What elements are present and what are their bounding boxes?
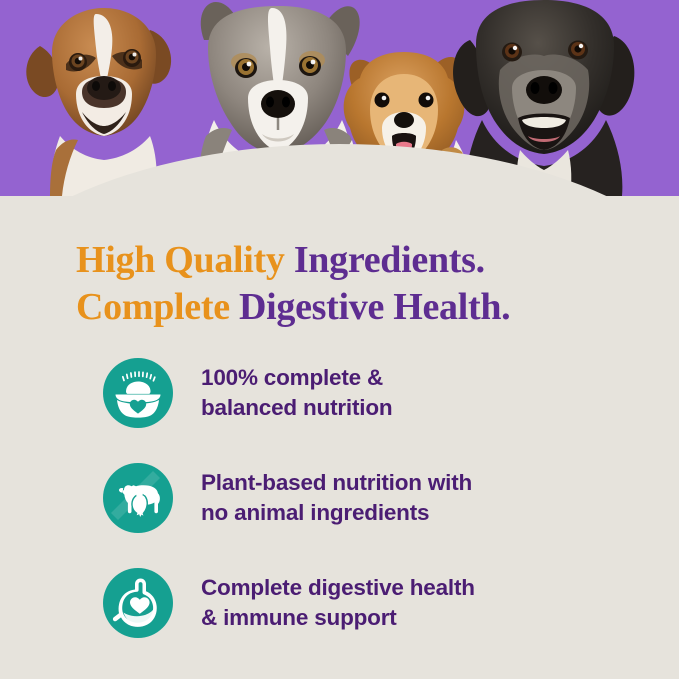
headline-line1-accent: High Quality: [76, 239, 294, 281]
feature-line-2: & immune support: [201, 603, 475, 633]
feature-line-1: Plant-based nutrition with: [201, 468, 472, 498]
headline-line2-accent: Complete: [76, 286, 239, 328]
feature-item-nutrition: 100% complete & balanced nutrition: [0, 340, 679, 445]
headline-line2-primary: Digestive Health.: [239, 286, 510, 328]
feature-item-plant-based: Plant-based nutrition with no animal ing…: [0, 445, 679, 550]
feature-line-1: Complete digestive health: [201, 573, 475, 603]
dog-photo-banner: [0, 0, 679, 196]
feature-line-2: balanced nutrition: [201, 393, 392, 423]
feature-line-2: no animal ingredients: [201, 498, 472, 528]
feature-text-plant-based: Plant-based nutrition with no animal ing…: [201, 468, 472, 527]
no-animal-ingredients-icon: [103, 463, 173, 533]
feature-item-digestive: Complete digestive health & immune suppo…: [0, 550, 679, 655]
dog-food-bowl-icon: [103, 358, 173, 428]
headline-line1-primary: Ingredients.: [294, 239, 485, 281]
page-title: High Quality Ingredients. Complete Diges…: [76, 237, 636, 330]
feature-text-digestive: Complete digestive health & immune suppo…: [201, 573, 475, 632]
headline-line-1: High Quality Ingredients.: [76, 237, 636, 284]
feature-text-nutrition: 100% complete & balanced nutrition: [201, 363, 392, 422]
product-feature-page: High Quality Ingredients. Complete Diges…: [0, 0, 679, 679]
stomach-heart-icon: [103, 568, 173, 638]
headline-line-2: Complete Digestive Health.: [76, 284, 636, 331]
feature-list: 100% complete & balanced nutrition: [0, 340, 679, 655]
feature-line-1: 100% complete &: [201, 363, 392, 393]
